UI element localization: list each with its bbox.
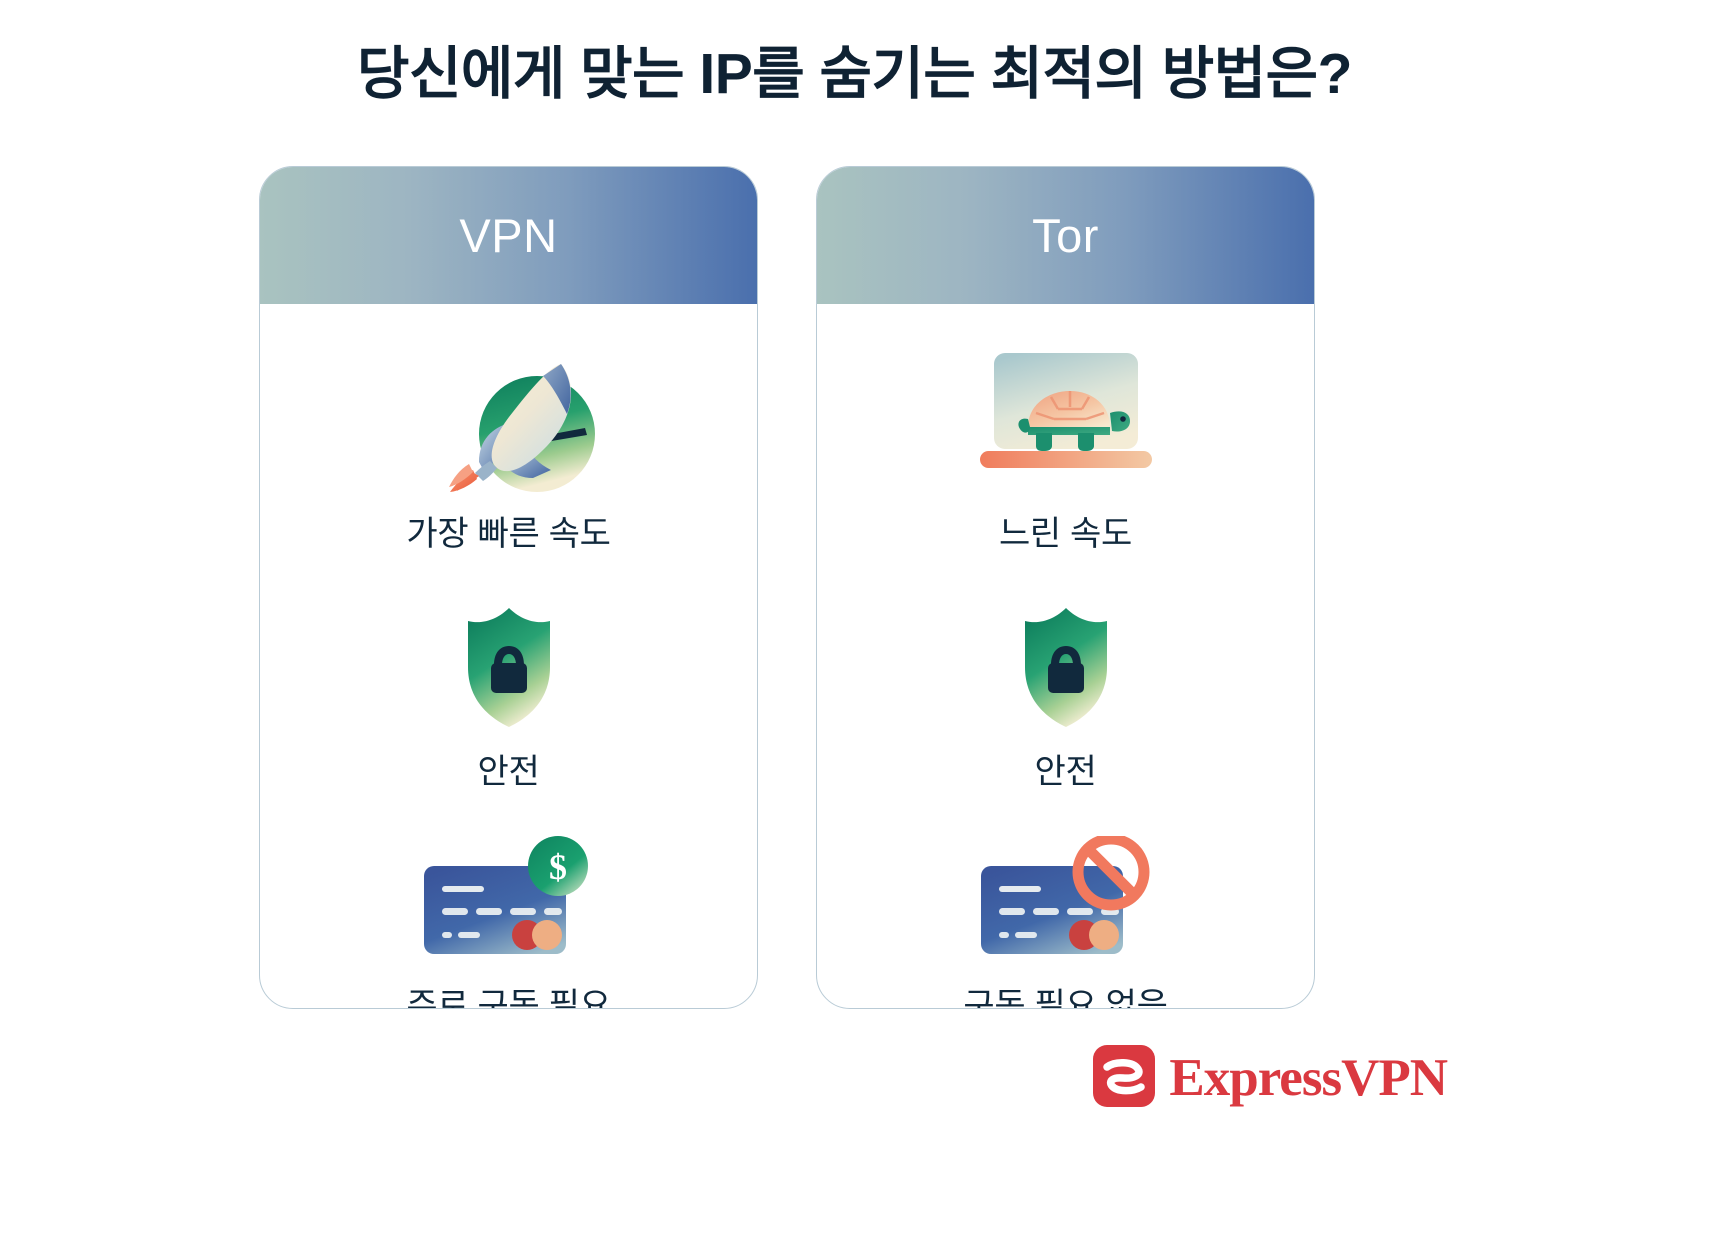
card-vpn-body: 가장 빠른 속도 bbox=[260, 304, 757, 1009]
turtle-laptop-icon bbox=[966, 342, 1166, 492]
expressvpn-logo-icon bbox=[1093, 1045, 1155, 1112]
feature-vpn-safe-label: 안전 bbox=[478, 744, 540, 793]
feature-vpn-safe: 안전 bbox=[260, 555, 757, 793]
shield-lock-icon bbox=[1011, 599, 1121, 734]
feature-vpn-speed-label: 가장 빠른 속도 bbox=[406, 506, 610, 555]
feature-tor-speed: 느린 속도 bbox=[817, 322, 1314, 555]
svg-text:$: $ bbox=[549, 847, 567, 887]
card-vpn-header: VPN bbox=[260, 167, 757, 304]
feature-tor-safe: 안전 bbox=[817, 555, 1314, 793]
expressvpn-brand[interactable]: ExpressVPN bbox=[1093, 1045, 1447, 1112]
expressvpn-wordmark: ExpressVPN bbox=[1169, 1052, 1447, 1105]
comparison-cards: VPN bbox=[0, 166, 1709, 1016]
credit-card-coin-icon: $ bbox=[414, 833, 604, 958]
credit-card-prohibited-icon bbox=[971, 833, 1161, 958]
rocket-speedometer-icon bbox=[409, 342, 609, 492]
page-title: 당신에게 맞는 IP를 숨기는 최적의 방법은? bbox=[0, 42, 1709, 108]
card-tor-body: 느린 속도 bbox=[817, 304, 1314, 1009]
feature-tor-pay-label: 구독 필요 없음 bbox=[963, 978, 1167, 1009]
feature-vpn-speed: 가장 빠른 속도 bbox=[260, 322, 757, 555]
feature-tor-safe-label: 안전 bbox=[1035, 744, 1097, 793]
card-vpn: VPN bbox=[259, 166, 758, 1009]
shield-lock-icon bbox=[454, 599, 564, 734]
feature-tor-speed-label: 느린 속도 bbox=[999, 506, 1132, 555]
feature-vpn-pay: $ 주로 구독 필요 bbox=[260, 793, 757, 1009]
feature-tor-pay: 구독 필요 없음 bbox=[817, 793, 1314, 1009]
card-tor-title: Tor bbox=[1032, 208, 1099, 263]
feature-vpn-pay-label: 주로 구독 필요 bbox=[406, 978, 610, 1009]
card-vpn-title: VPN bbox=[459, 208, 557, 263]
card-tor: Tor bbox=[816, 166, 1315, 1009]
card-tor-header: Tor bbox=[817, 167, 1314, 304]
